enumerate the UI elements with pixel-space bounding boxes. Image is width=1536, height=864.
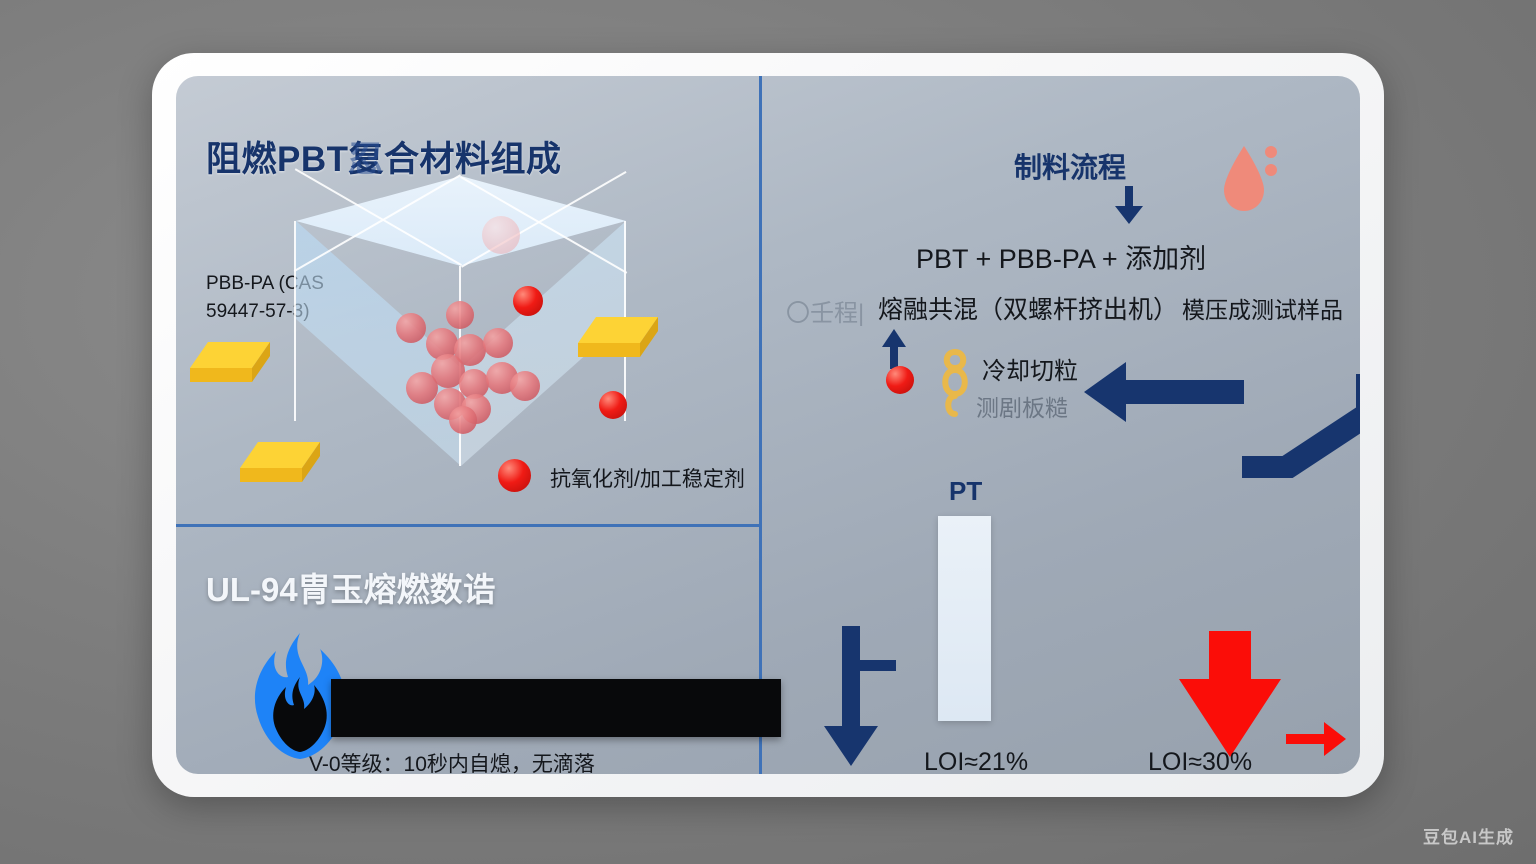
- spiral-icon: [938, 348, 972, 418]
- bar-pt: [938, 516, 991, 721]
- divider-horizontal: [176, 524, 762, 527]
- loi-left-label: LOI≈21%: [924, 748, 1028, 774]
- card-frame: 阻燃PBT复合材料组成 忍 PBB-PA (CAS 59447-57-3): [152, 53, 1384, 797]
- left-panel-title: 阻燃PBT复合材料组成: [206, 131, 562, 182]
- label-antioxidant: 抗氧化剂/加工稳定剂: [550, 463, 745, 493]
- platelet-icon: [574, 313, 664, 371]
- sphere-inside: [510, 371, 540, 401]
- loi-right-label: LOI≈30%: [1148, 748, 1252, 774]
- step-melt-blend-ghost-prefix: 〇壬程|: [786, 293, 864, 328]
- step-formula-label: PBT + PBB-PA + 添加剂: [916, 237, 1206, 276]
- cube-edge: [294, 221, 296, 421]
- droplet-icon: [1218, 138, 1280, 218]
- step-melt-blend-label: 熔融共混（双螺杆挤出机）: [878, 290, 1178, 326]
- step-pelletize-ghost-sub: 测剧板糙: [976, 389, 1068, 423]
- pellet-sphere: [886, 366, 914, 394]
- sphere-inside: [483, 328, 513, 358]
- sphere-faint: [482, 216, 520, 254]
- step-mold-label: 模压成测试样品: [1182, 291, 1343, 325]
- legend-sphere-antioxidant: [498, 459, 531, 492]
- sphere-outside: [599, 391, 627, 419]
- sphere-outside: [513, 286, 543, 316]
- navy-down-arrow-icon: [820, 626, 898, 768]
- platelet-icon: [236, 438, 326, 496]
- red-right-arrow-icon: [1286, 722, 1348, 756]
- specimen-bar: [331, 679, 781, 737]
- infographic-panel: 阻燃PBT复合材料组成 忍 PBB-PA (CAS 59447-57-3): [176, 76, 1360, 774]
- red-down-arrow-icon: [1176, 631, 1284, 759]
- process-down-arrow-icon: [1114, 186, 1144, 224]
- composite-cube-illustration: [296, 176, 626, 466]
- ul94-result-text: V-0等级：10秒内自熄，无滴落: [309, 748, 595, 774]
- bent-arrow-icon: [1186, 368, 1360, 478]
- platelet-icon: [186, 338, 276, 396]
- sphere-inside: [406, 372, 438, 404]
- bar-label-pt: PT: [949, 476, 982, 507]
- process-up-arrow-icon: [881, 329, 907, 369]
- watermark: 豆包AI生成: [1423, 823, 1514, 848]
- divider-vertical: [759, 76, 762, 774]
- sphere-inside: [446, 301, 474, 329]
- step-pelletize-label: 冷却切粒: [982, 351, 1078, 386]
- title-glitch-overlay: 忍: [348, 131, 383, 182]
- sphere-inside: [449, 406, 477, 434]
- ul94-title: UL-94冑玉熔燃数诰: [206, 563, 496, 611]
- sphere-inside: [396, 313, 426, 343]
- right-panel-title: 制料流程: [1014, 146, 1126, 186]
